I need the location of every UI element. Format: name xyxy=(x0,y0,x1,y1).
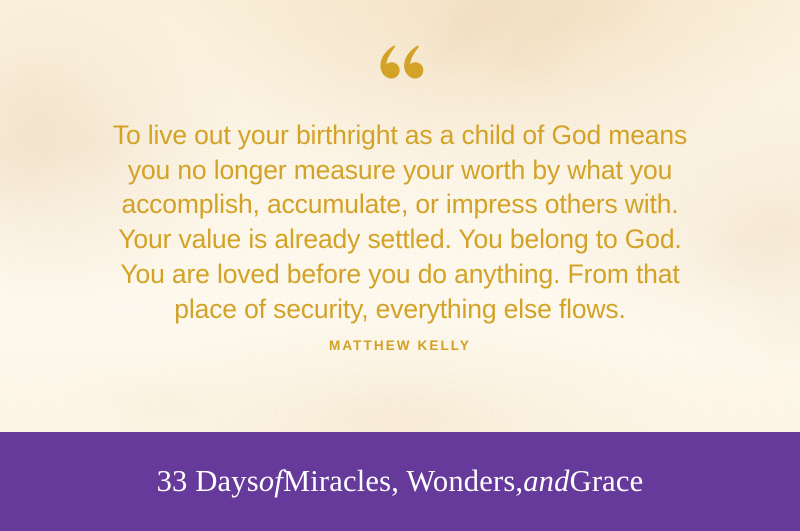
quote-line: accomplish, accumulate, or impress other… xyxy=(0,187,800,222)
quote-line: you no longer measure your worth by what… xyxy=(0,153,800,188)
book-title-part: Grace xyxy=(570,464,644,499)
book-title-part-italic: of xyxy=(259,464,283,499)
quote-line: Your value is already settled. You belon… xyxy=(0,222,800,257)
quote-attribution: MATTHEW KELLY xyxy=(0,338,800,353)
quote-text: To live out your birthright as a child o… xyxy=(0,118,800,326)
book-title-part: Miracles, Wonders, xyxy=(283,464,523,499)
book-title-part: 33 Days xyxy=(157,464,259,499)
quote-line: To live out your birthright as a child o… xyxy=(0,118,800,153)
quote-card: To live out your birthright as a child o… xyxy=(0,0,800,531)
quote-line: place of security, everything else flows… xyxy=(0,292,800,327)
book-title-part-italic: and xyxy=(523,464,569,499)
open-quote-icon xyxy=(0,44,800,98)
footer-band: 33 Days of Miracles, Wonders, and Grace xyxy=(0,432,800,531)
quote-line: You are loved before you do anything. Fr… xyxy=(0,257,800,292)
book-title: 33 Days of Miracles, Wonders, and Grace xyxy=(0,432,800,531)
